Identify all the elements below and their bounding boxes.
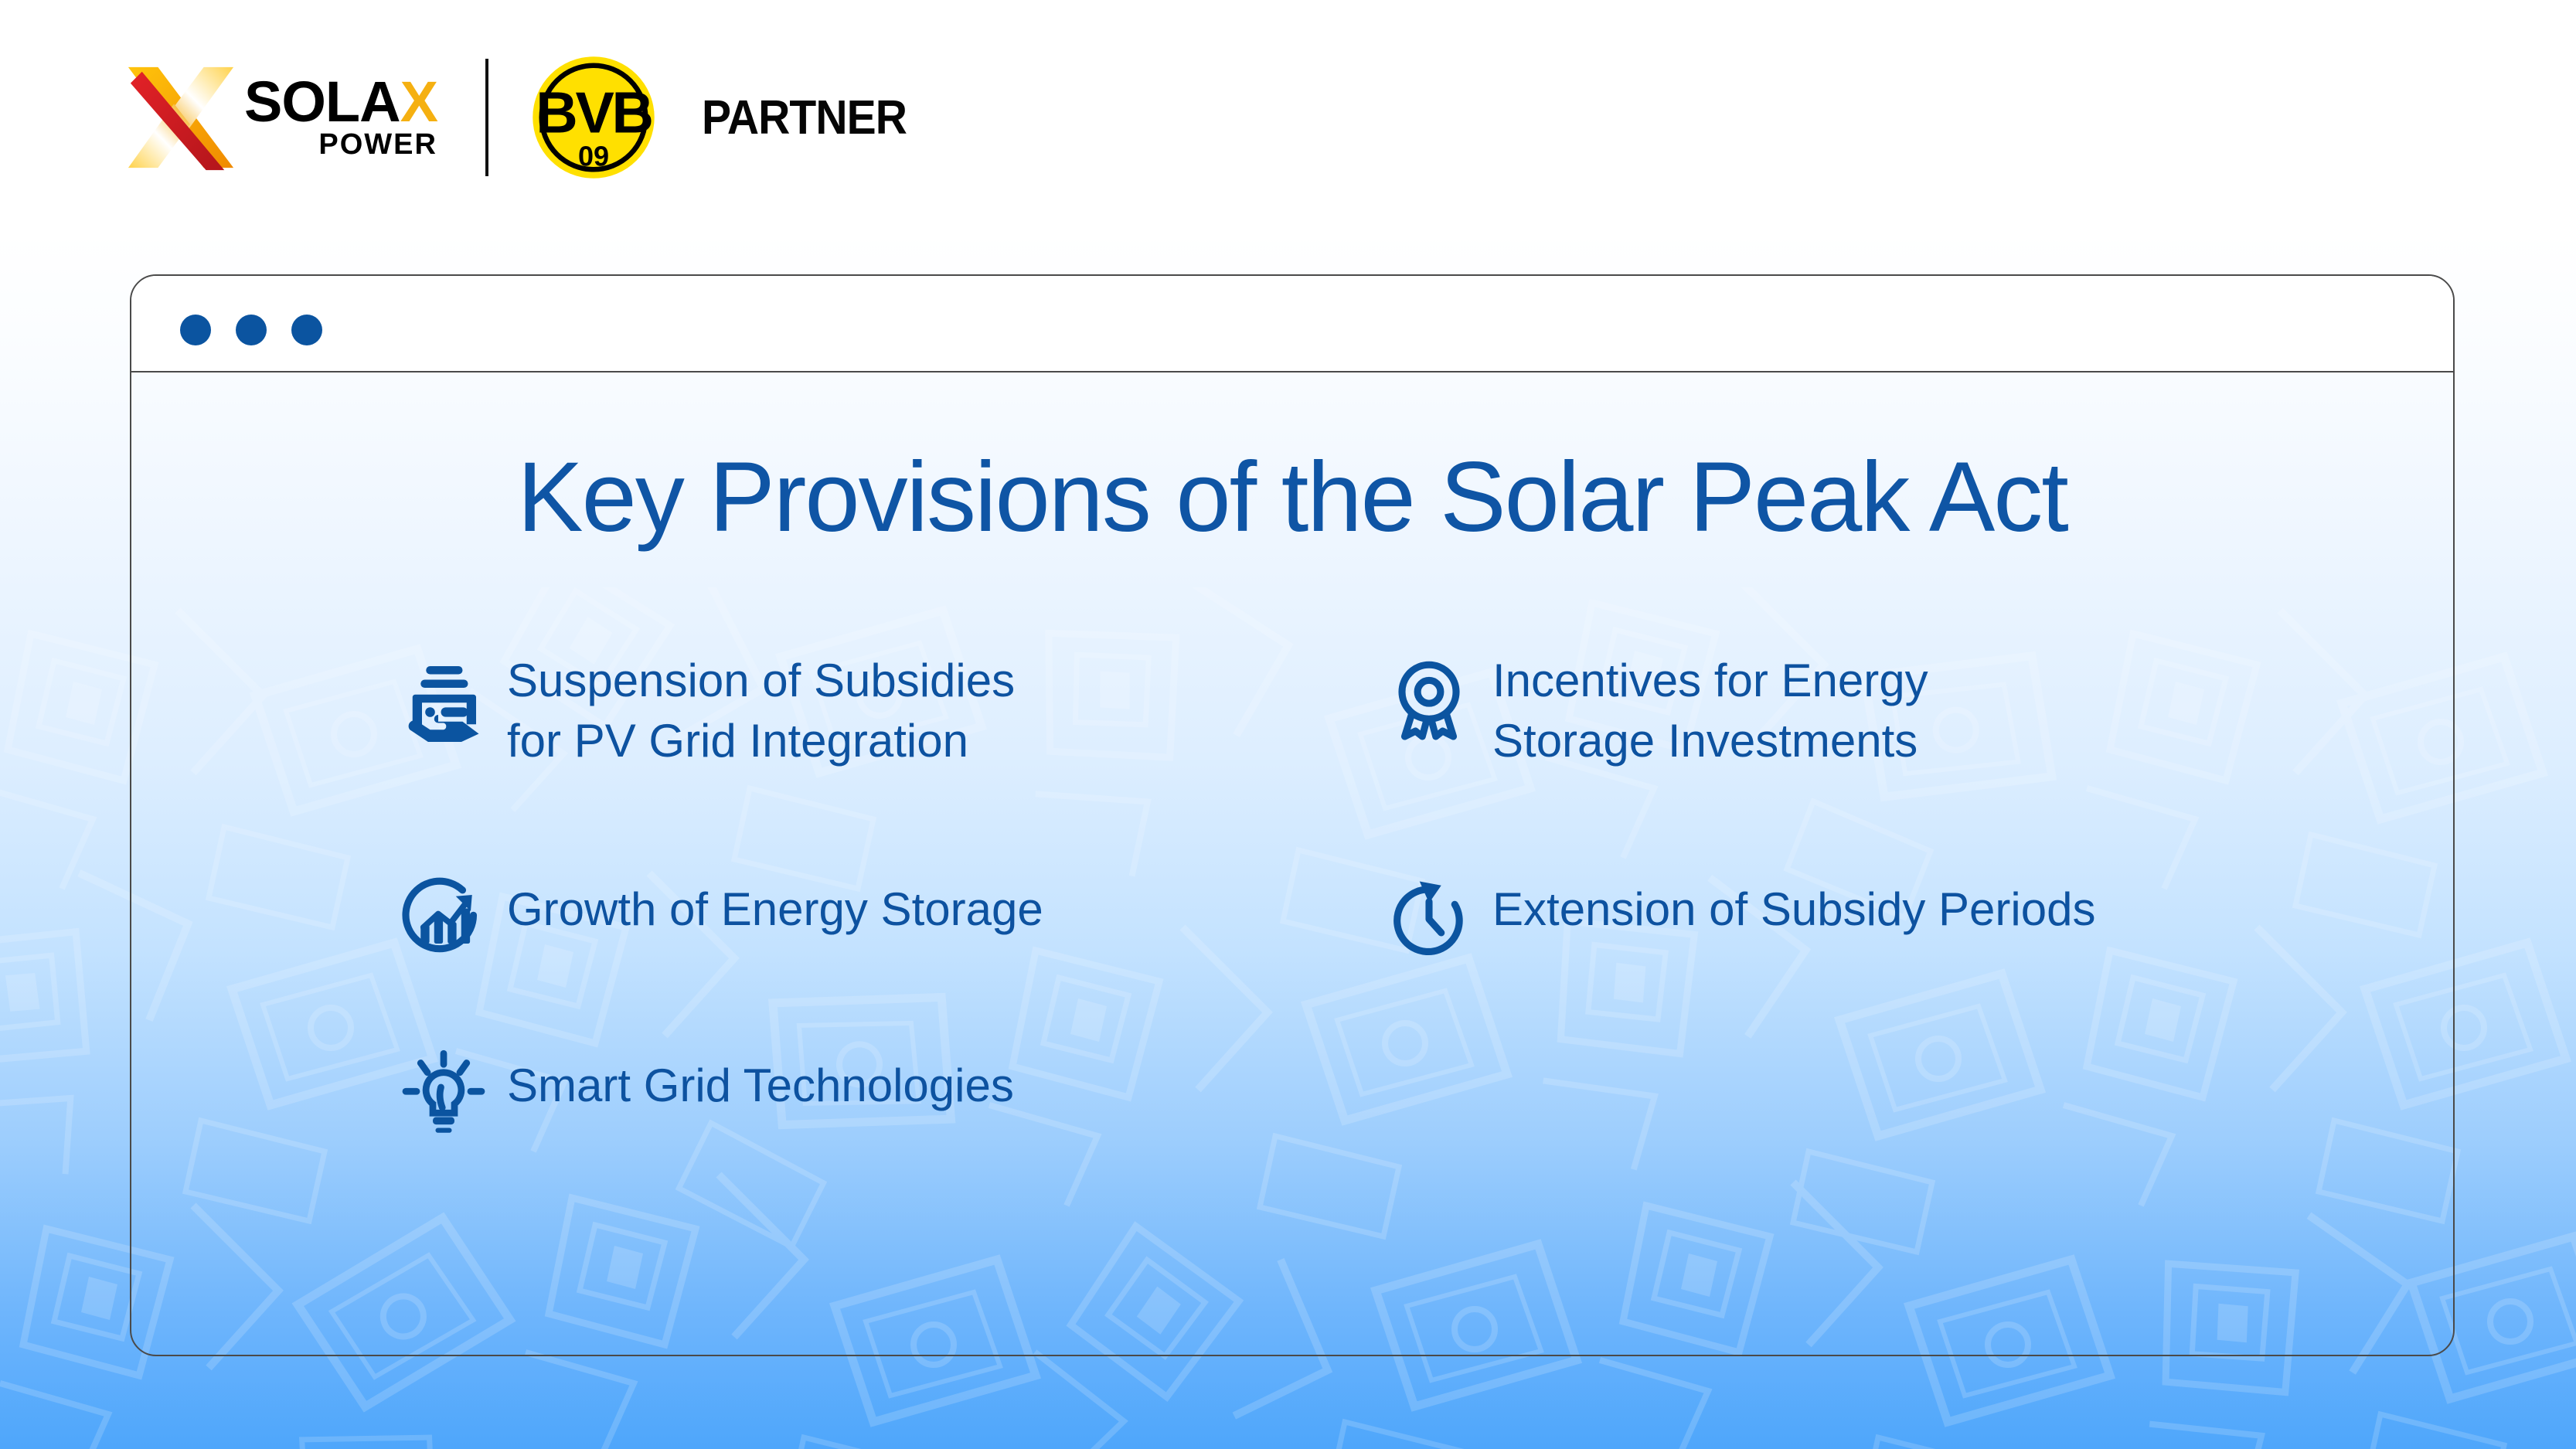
feature-row-2: Growth of Energy Storage [400, 873, 2193, 960]
feature-label: Incentives for Energy Storage Investment… [1492, 651, 1928, 771]
solax-x-logo-icon [124, 60, 238, 175]
feature-item-incentives-for-energy-storage[interactable]: Incentives for Energy Storage Investment… [1386, 651, 1928, 771]
feature-item-extension-of-subsidy-periods[interactable]: Extension of Subsidy Periods [1386, 873, 2095, 960]
award-ribbon-icon [1386, 655, 1472, 742]
feature-cell-left-2: Growth of Energy Storage [400, 873, 1386, 960]
window-controls [180, 315, 322, 345]
browser-window-card: Key Provisions of the Solar Peak Act [130, 274, 2455, 1356]
svg-text:BVB: BVB [536, 80, 652, 145]
window-dot-1[interactable] [180, 315, 211, 345]
feature-row-3: Smart Grid Technologies [400, 1049, 2193, 1136]
logo-row: SOLAX POWER BVB 09 PARTNER [124, 56, 924, 179]
hand-holding-documents-icon [400, 655, 487, 742]
window-content: Key Provisions of the Solar Peak Act [131, 372, 2453, 1356]
feature-label: Suspension of Subsidies for PV Grid Inte… [507, 651, 1015, 771]
slide-canvas: SOLAX POWER BVB 09 PARTNER Key Pro [0, 0, 2576, 1449]
feature-label: Smart Grid Technologies [507, 1049, 1014, 1116]
feature-cell-right-1: Incentives for Energy Storage Investment… [1386, 651, 2193, 771]
solax-wordmark-main: SOLAX [244, 76, 437, 128]
page-title: Key Provisions of the Solar Peak Act [131, 440, 2453, 554]
clock-rotate-icon [1386, 873, 1472, 960]
feature-row-1: Suspension of Subsidies for PV Grid Inte… [400, 651, 2193, 771]
solax-wordmark: SOLAX POWER [244, 76, 437, 159]
feature-label: Growth of Energy Storage [507, 873, 1043, 940]
solax-wordmark-sub: POWER [318, 130, 437, 159]
feature-item-smart-grid-technologies[interactable]: Smart Grid Technologies [400, 1049, 1014, 1136]
svg-text:09: 09 [578, 140, 609, 172]
feature-cell-left-1: Suspension of Subsidies for PV Grid Inte… [400, 651, 1386, 771]
window-dot-3[interactable] [291, 315, 322, 345]
partner-label: PARTNER [702, 90, 907, 145]
bvb-crest-icon: BVB 09 [530, 54, 657, 181]
window-titlebar [131, 276, 2453, 372]
logo-divider [485, 59, 488, 176]
feature-list: Suspension of Subsidies for PV Grid Inte… [400, 651, 2193, 1136]
feature-cell-right-2: Extension of Subsidy Periods [1386, 873, 2193, 960]
page-header: SOLAX POWER BVB 09 PARTNER [0, 0, 2576, 232]
lightbulb-idea-icon [400, 1049, 487, 1136]
solax-wordmark-accent: X [400, 70, 437, 134]
window-dot-2[interactable] [236, 315, 267, 345]
feature-item-suspension-of-subsidies[interactable]: Suspension of Subsidies for PV Grid Inte… [400, 651, 1015, 771]
feature-label: Extension of Subsidy Periods [1492, 873, 2095, 940]
growth-chart-circle-icon [400, 873, 487, 960]
feature-item-growth-of-energy-storage[interactable]: Growth of Energy Storage [400, 873, 1043, 960]
feature-cell-left-3: Smart Grid Technologies [400, 1049, 1386, 1136]
